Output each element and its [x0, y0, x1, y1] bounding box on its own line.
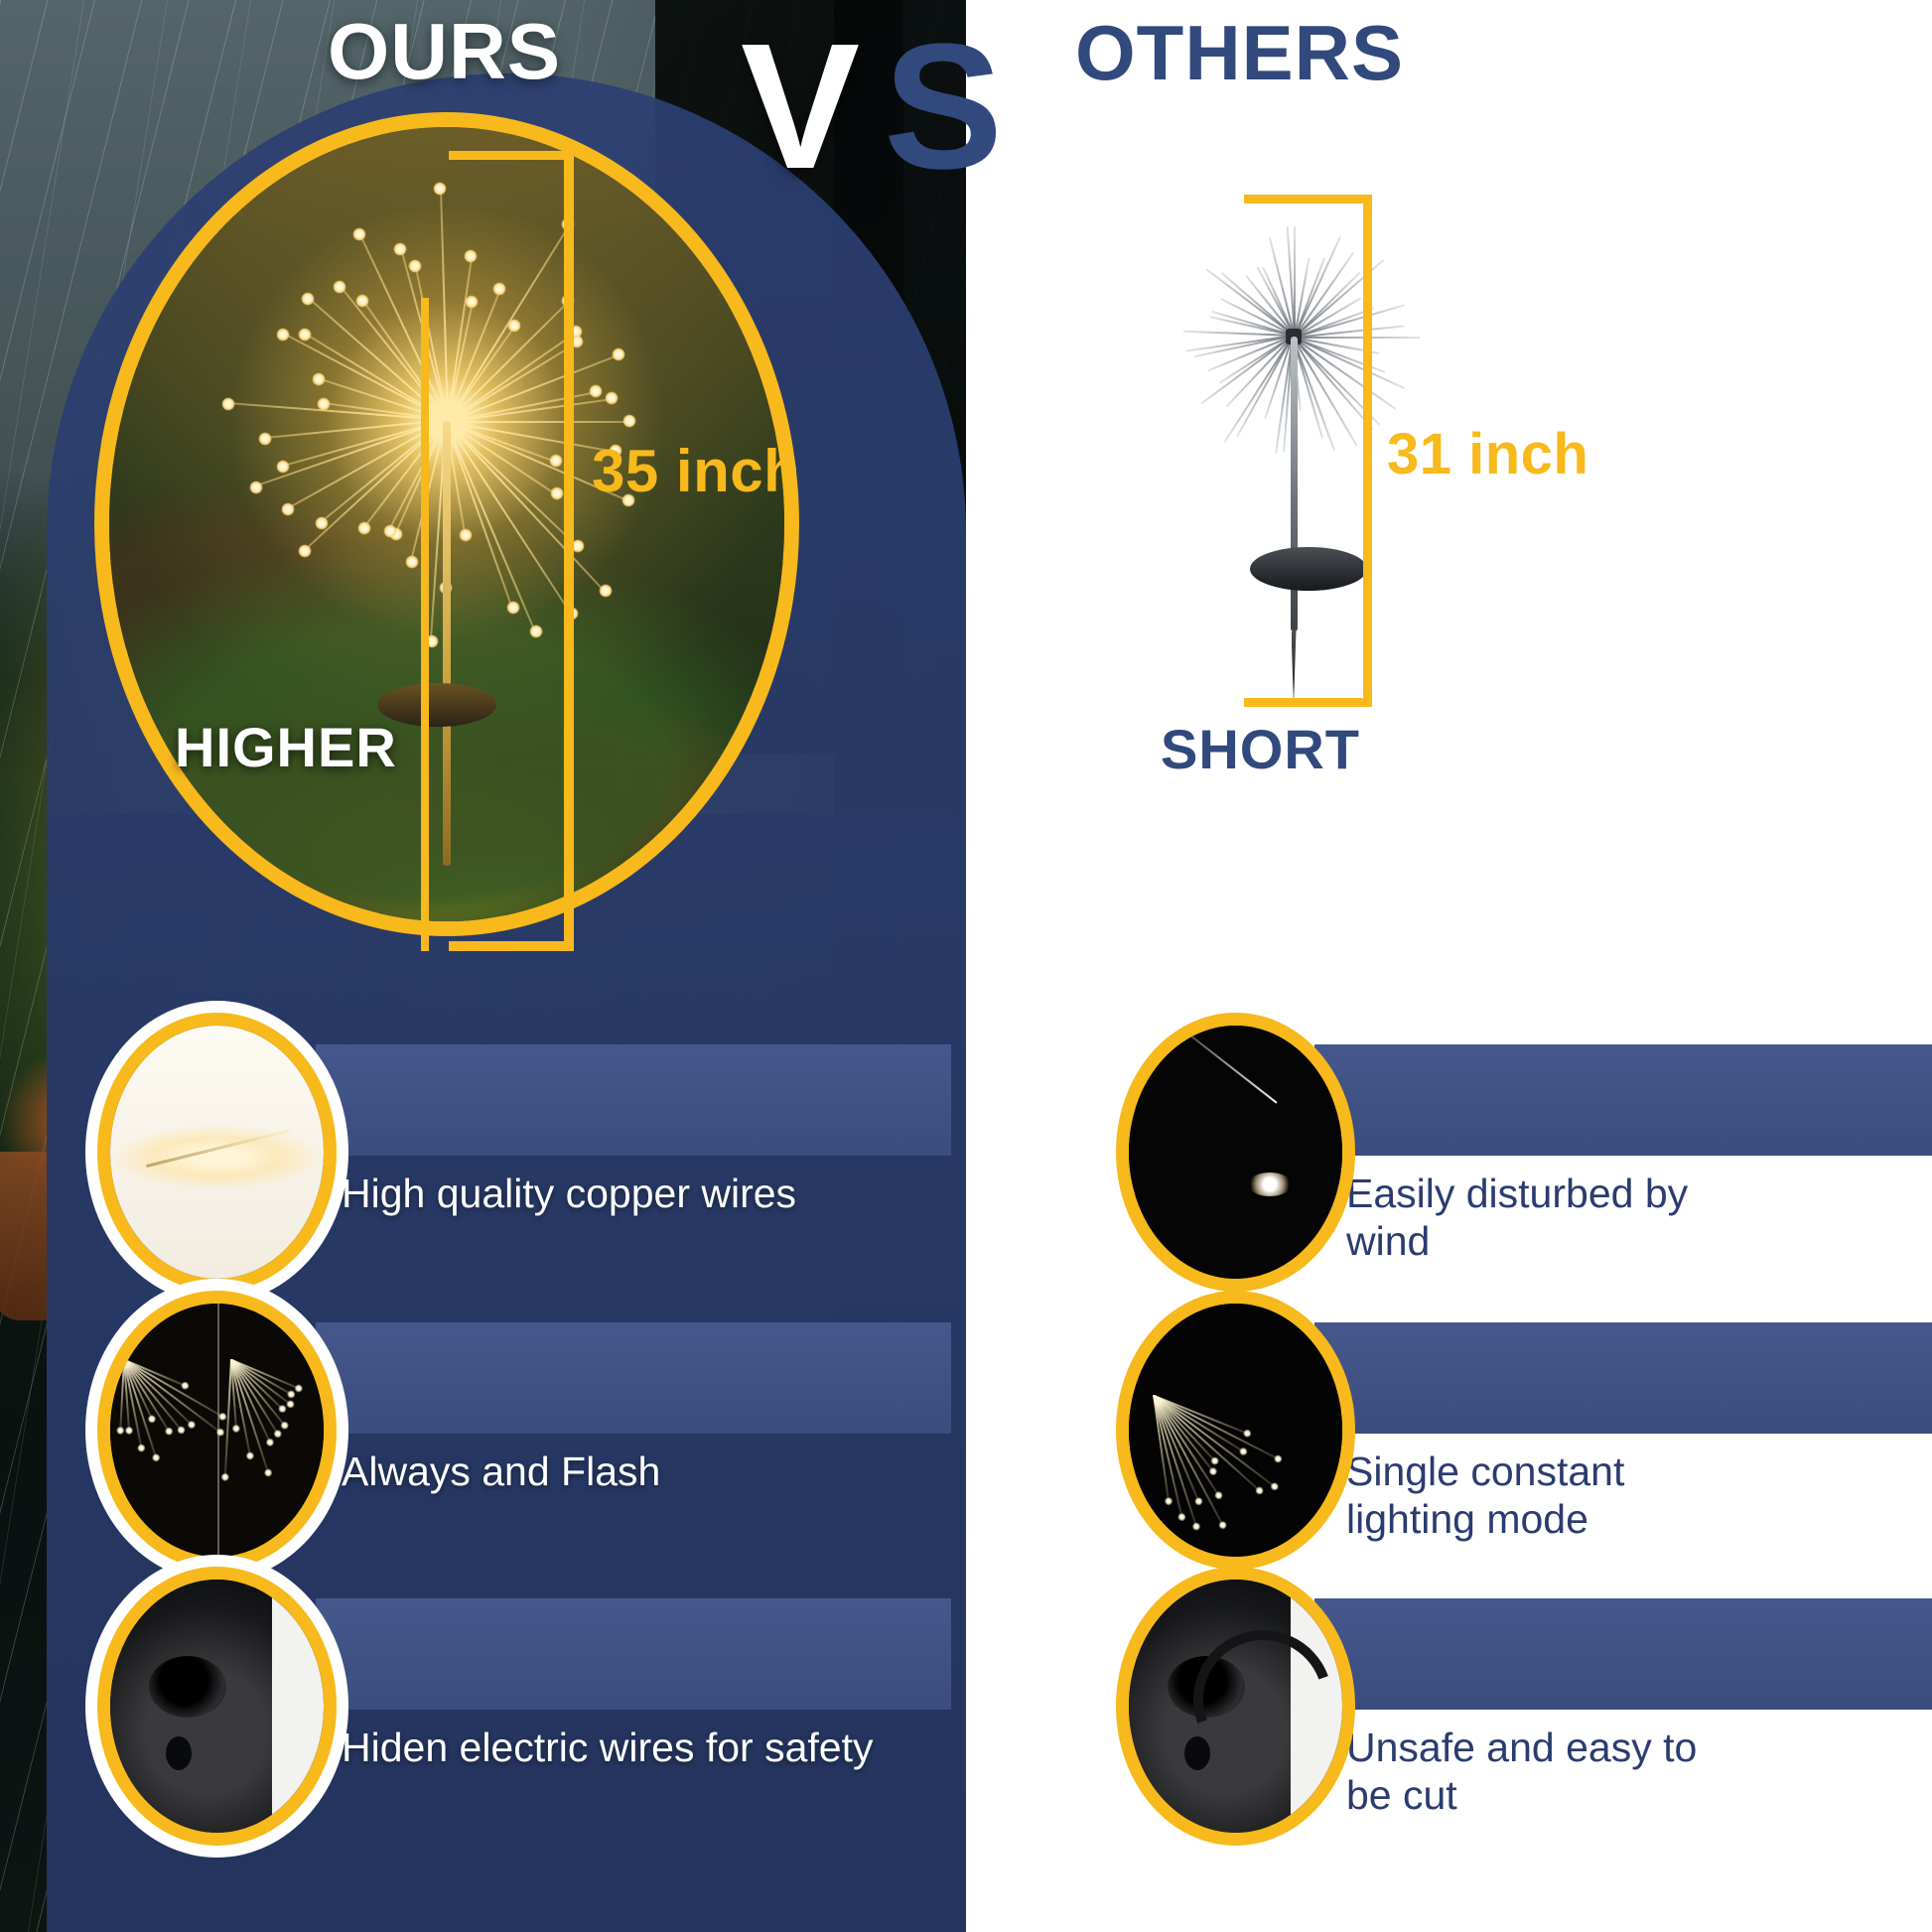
ours-title: OURS: [328, 12, 561, 91]
light-ray: [1224, 336, 1294, 442]
feature-icon-dual-mode-firework-icon: [97, 1291, 337, 1570]
feature-row: Safety Hiden electric wires for safety: [97, 1567, 951, 1835]
short-label: SHORT: [1161, 717, 1360, 781]
feature-subtitle: Hiden electric wires for safety: [342, 1724, 897, 1771]
mode-always-half: [110, 1304, 217, 1557]
feature-title-band: [316, 1044, 951, 1156]
light-dot: [383, 524, 396, 537]
thin-wire-art: [1129, 1026, 1342, 1279]
light-dot: [355, 295, 368, 308]
light-dot: [507, 320, 520, 333]
light-dot: [492, 283, 505, 296]
copper-wire-bundle-art: [110, 1026, 324, 1279]
thin-strand: [1173, 1021, 1278, 1104]
vs-letter-v: V: [741, 18, 854, 197]
light-dot: [550, 487, 563, 500]
base-hole: [166, 1736, 192, 1770]
gray-ground-spike: [1292, 631, 1297, 705]
dual-mode-firework-art: [110, 1304, 324, 1557]
light-ray: [447, 342, 578, 422]
light-dot: [276, 328, 289, 341]
light-dot: [465, 250, 478, 263]
light-dot: [408, 260, 421, 273]
light-dot: [466, 295, 479, 308]
dim-bottom-tick: [449, 941, 574, 951]
light-spark: [1248, 1173, 1292, 1196]
light-dot: [612, 347, 624, 360]
light-dot: [312, 373, 325, 386]
comparison-infographic: 35 inch HIGHER OTHERS 31 inch SHORT V S …: [0, 0, 1932, 1932]
light-ray: [1294, 226, 1296, 337]
light-dot: [405, 555, 418, 568]
light-ray: [445, 421, 513, 609]
wire-strand: [146, 1129, 292, 1168]
base-port: [149, 1656, 226, 1718]
dim-vertical-line-right: [1363, 195, 1372, 707]
solar-base-exposed-wire-art: [1129, 1580, 1342, 1833]
higher-label: HIGHER: [175, 715, 397, 779]
feature-row: Exposed Wires Unsafe and easy to be cut: [1116, 1567, 1932, 1835]
light-dot: [318, 398, 331, 411]
light-ray: [1294, 337, 1420, 339]
single-mode-firework-art: [1129, 1304, 1342, 1557]
light-dot: [298, 545, 311, 558]
feature-title-band: [1314, 1044, 1932, 1156]
solar-base-hidden-wire-art: [110, 1580, 324, 1833]
light-dot: [259, 433, 272, 446]
feature-row: Two Modes Always and Flash: [97, 1291, 951, 1559]
gray-solar-cap: [1250, 547, 1367, 591]
mode-flash-half: [217, 1304, 325, 1557]
light-dot: [315, 516, 328, 529]
feature-title-band: [1314, 1598, 1932, 1710]
light-dot: [298, 328, 311, 341]
feature-subtitle: Always and Flash: [342, 1448, 957, 1495]
light-dot: [460, 528, 473, 541]
light-dot: [434, 182, 447, 195]
feature-subtitle: High quality copper wires: [342, 1170, 957, 1217]
background-wall: [272, 1580, 324, 1833]
light-dot: [358, 521, 371, 534]
dim-bottom-tick-right: [1244, 698, 1371, 707]
light-dot: [394, 243, 407, 256]
light-stem: [443, 421, 451, 866]
light-ray: [447, 421, 629, 423]
feature-icon-solar-base-hidden-wire-icon: [97, 1567, 337, 1846]
light-ray: [447, 301, 570, 423]
feature-title-band: [316, 1322, 951, 1434]
light-dot: [506, 602, 519, 615]
feature-icon-thin-wire-icon: [1116, 1013, 1355, 1292]
light-dot: [222, 398, 235, 411]
feature-row: Thin Wires Easily disturbed by wind: [1116, 1013, 1932, 1281]
dim-vertical-line: [564, 151, 574, 951]
feature-row: Single Mode Single constant lighting mod…: [1116, 1291, 1932, 1559]
feature-row: Thicker Wires High quality copper wires: [97, 1013, 951, 1281]
dim-top-tick-right: [1244, 195, 1371, 204]
light-dot: [622, 415, 635, 428]
light-dot: [352, 227, 365, 240]
light-dot: [590, 385, 603, 398]
feature-icon-solar-base-exposed-wire-icon: [1116, 1567, 1355, 1846]
light-dot: [549, 455, 562, 468]
ours-dimension-label: 35 inch: [592, 437, 800, 505]
feature-icon-copper-wire-bundle-icon: [97, 1013, 337, 1292]
light-dot: [530, 625, 543, 638]
feature-subtitle: Single constant lighting mode: [1346, 1448, 1743, 1544]
light-dot: [599, 585, 612, 598]
base-hole: [1184, 1736, 1210, 1770]
dim-top-tick: [449, 151, 574, 160]
light-strand: [223, 1359, 231, 1481]
ours-product-photo-ring: [94, 112, 799, 936]
others-dimension-label: 31 inch: [1387, 421, 1588, 487]
mode-divider: [217, 1304, 219, 1557]
feature-subtitle: Unsafe and easy to be cut: [1346, 1724, 1743, 1820]
light-dot: [276, 461, 289, 474]
feature-title-band: [1314, 1322, 1932, 1434]
ours-product-photo: [109, 127, 784, 921]
light-dot: [302, 293, 315, 306]
light-dot: [606, 392, 619, 405]
feature-subtitle: Easily disturbed by wind: [1346, 1170, 1743, 1266]
dim-stem-line: [421, 298, 429, 951]
light-dot: [334, 281, 346, 294]
others-title: OTHERS: [1075, 14, 1404, 91]
feature-title-band: [316, 1598, 951, 1710]
light-dot: [249, 481, 262, 493]
light-strand: [119, 1359, 125, 1435]
vs-letter-s: S: [884, 18, 997, 197]
light-strand: [124, 1359, 224, 1436]
feature-icon-single-mode-firework-icon: [1116, 1291, 1355, 1570]
light-dot: [281, 503, 294, 516]
